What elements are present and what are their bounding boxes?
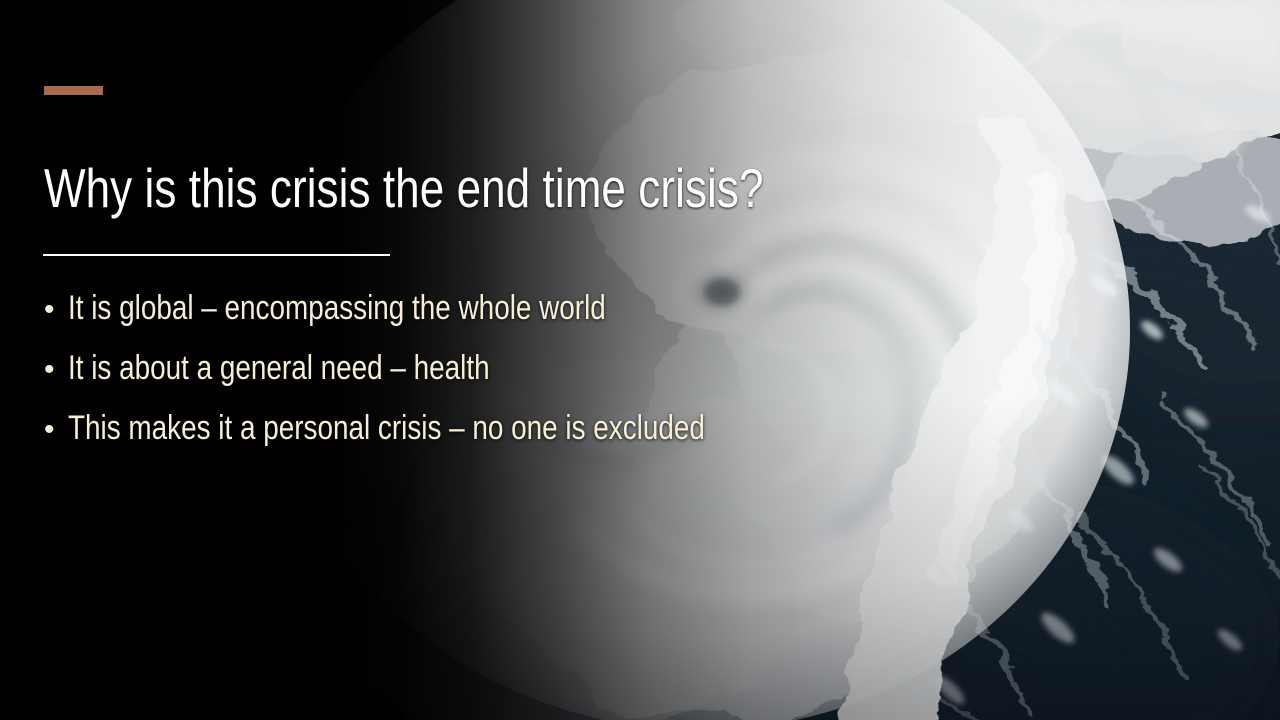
bullet-marker-icon: • xyxy=(44,348,68,392)
bullet-text: It is about a general need – health xyxy=(68,346,490,390)
list-item: • It is about a general need – health xyxy=(44,346,944,406)
bullet-list: • It is global – encompassing the whole … xyxy=(44,286,944,466)
bullet-marker-icon: • xyxy=(44,288,68,332)
list-item: • It is global – encompassing the whole … xyxy=(44,286,944,346)
slide-title: Why is this crisis the end time crisis? xyxy=(44,160,652,217)
bullet-marker-icon: • xyxy=(44,408,68,452)
bullet-text: This makes it a personal crisis – no one… xyxy=(68,406,705,450)
title-underline-rule xyxy=(43,254,390,256)
slide-content: Why is this crisis the end time crisis? … xyxy=(0,0,1280,720)
presentation-slide: Why is this crisis the end time crisis? … xyxy=(0,0,1280,720)
accent-bar xyxy=(44,86,103,95)
bullet-text: It is global – encompassing the whole wo… xyxy=(68,286,606,330)
list-item: • This makes it a personal crisis – no o… xyxy=(44,406,944,466)
